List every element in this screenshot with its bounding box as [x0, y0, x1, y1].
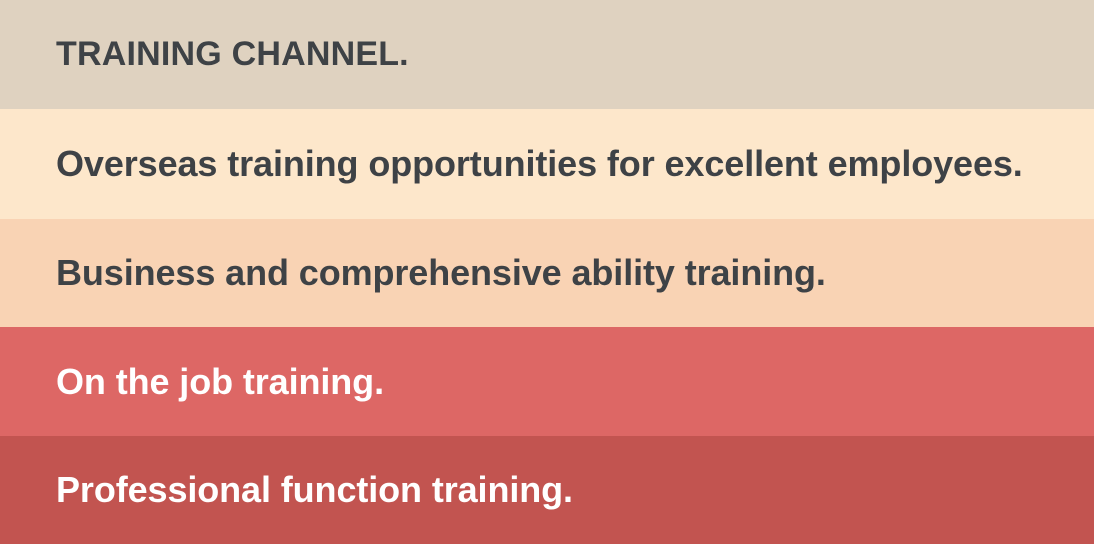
- training-channel-item-3: On the job training.: [0, 327, 1094, 436]
- training-channel-item-label: On the job training.: [56, 362, 384, 402]
- training-channel-infographic: TRAINING CHANNEL. Overseas training oppo…: [0, 0, 1094, 544]
- page-title: TRAINING CHANNEL.: [56, 36, 409, 73]
- training-channel-item-4: Professional function training.: [0, 436, 1094, 544]
- training-channel-item-label: Business and comprehensive ability train…: [56, 253, 826, 293]
- infographic-title-band: TRAINING CHANNEL.: [0, 0, 1094, 109]
- training-channel-item-label: Overseas training opportunities for exce…: [56, 144, 1023, 184]
- training-channel-item-1: Overseas training opportunities for exce…: [0, 109, 1094, 219]
- training-channel-item-label: Professional function training.: [56, 470, 573, 510]
- training-channel-item-2: Business and comprehensive ability train…: [0, 219, 1094, 327]
